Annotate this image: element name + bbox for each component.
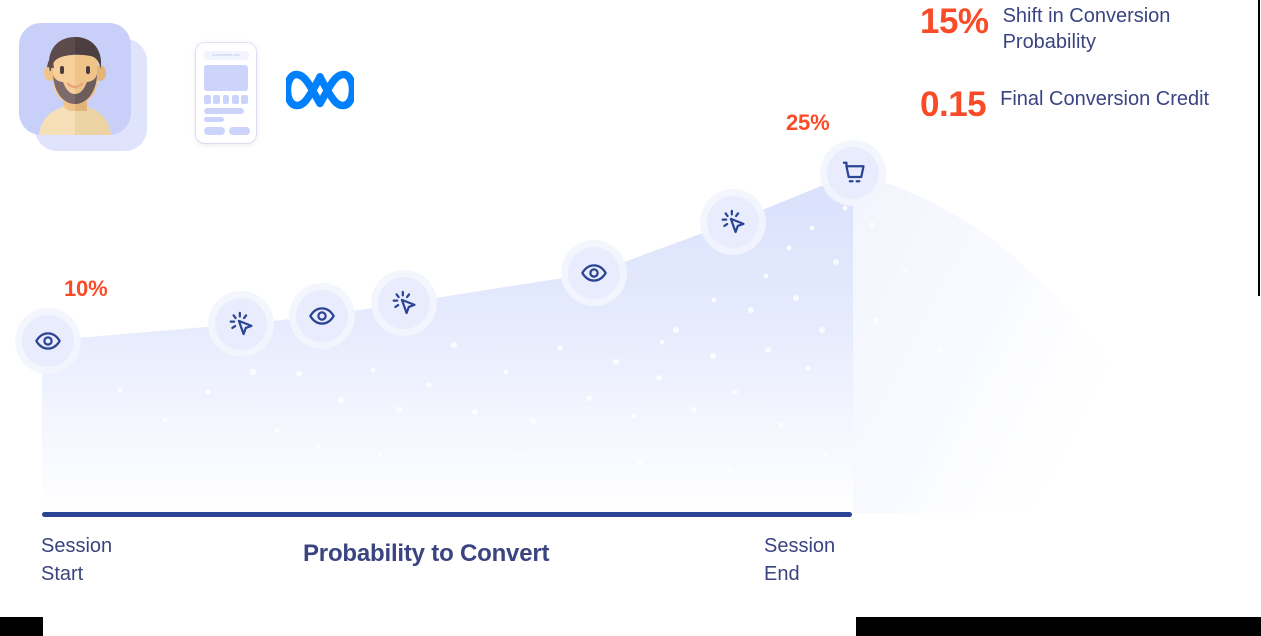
axis-label-session-end: Session End	[764, 532, 835, 588]
chart-node-view-1[interactable]	[22, 315, 74, 367]
phone-button	[229, 127, 250, 135]
axis-label-session-start-line2: Start	[41, 560, 112, 588]
axis-label-session-end-line1: Session	[764, 532, 835, 560]
phone-tile	[232, 95, 239, 104]
phone-text-line	[204, 108, 244, 114]
end-probability-label: 25%	[786, 110, 829, 136]
avatar-card	[19, 23, 131, 135]
stat-value: 15%	[920, 3, 989, 39]
chart-node-click-1[interactable]	[215, 298, 267, 350]
right-edge-rule	[1258, 0, 1260, 296]
axis-label-session-start: Session Start	[41, 532, 112, 588]
phone-tile-row	[204, 95, 248, 104]
cart-icon	[839, 159, 867, 187]
stat-value: 0.15	[920, 86, 986, 122]
chart-node-click-3[interactable]	[707, 196, 759, 248]
phone-mockup: yourwebsite.com	[196, 43, 256, 143]
phone-text-line	[204, 117, 224, 122]
bottom-bar-left	[0, 617, 43, 636]
chart-node-view-3[interactable]	[568, 247, 620, 299]
asset-row: yourwebsite.com	[0, 0, 420, 170]
phone-tile	[204, 95, 211, 104]
phone-tile	[241, 95, 248, 104]
eye-icon	[308, 302, 336, 330]
click-icon	[390, 289, 418, 317]
chart-title: Probability to Convert	[303, 540, 549, 568]
bottom-bar-right	[856, 617, 1261, 636]
start-probability-label: 10%	[64, 276, 107, 302]
chart-ghost-shape	[853, 173, 1150, 513]
phone-tile	[223, 95, 230, 104]
stat-item: 15% Shift in Conversion Probability	[920, 3, 1250, 56]
stats-panel: 15% Shift in Conversion Probability 0.15…	[920, 0, 1250, 138]
chart-baseline-axis	[42, 512, 852, 517]
click-icon	[719, 208, 747, 236]
screenshot-root: yourwebsite.com	[0, 0, 1261, 636]
phone-hero-image	[204, 65, 248, 91]
click-icon	[227, 310, 255, 338]
phone-body: yourwebsite.com	[196, 43, 256, 143]
phone-tile	[213, 95, 220, 104]
phone-url-bar: yourwebsite.com	[203, 51, 249, 60]
phone-button	[204, 127, 225, 135]
axis-label-session-start-line1: Session	[41, 532, 112, 560]
eye-icon	[34, 327, 62, 355]
chart-node-purchase[interactable]	[827, 147, 879, 199]
eye-icon	[580, 259, 608, 287]
user-avatar-illustration	[19, 23, 131, 135]
avatar	[19, 23, 151, 151]
stat-item: 0.15 Final Conversion Credit	[920, 86, 1250, 122]
stat-label: Shift in Conversion Probability	[1003, 3, 1233, 56]
stat-label: Final Conversion Credit	[1000, 86, 1209, 112]
chart-node-view-2[interactable]	[296, 290, 348, 342]
chart-node-click-2[interactable]	[378, 277, 430, 329]
chart-ghost-speckles	[869, 222, 943, 353]
axis-label-session-end-line2: End	[764, 560, 835, 588]
meta-infinity-icon	[286, 62, 354, 118]
